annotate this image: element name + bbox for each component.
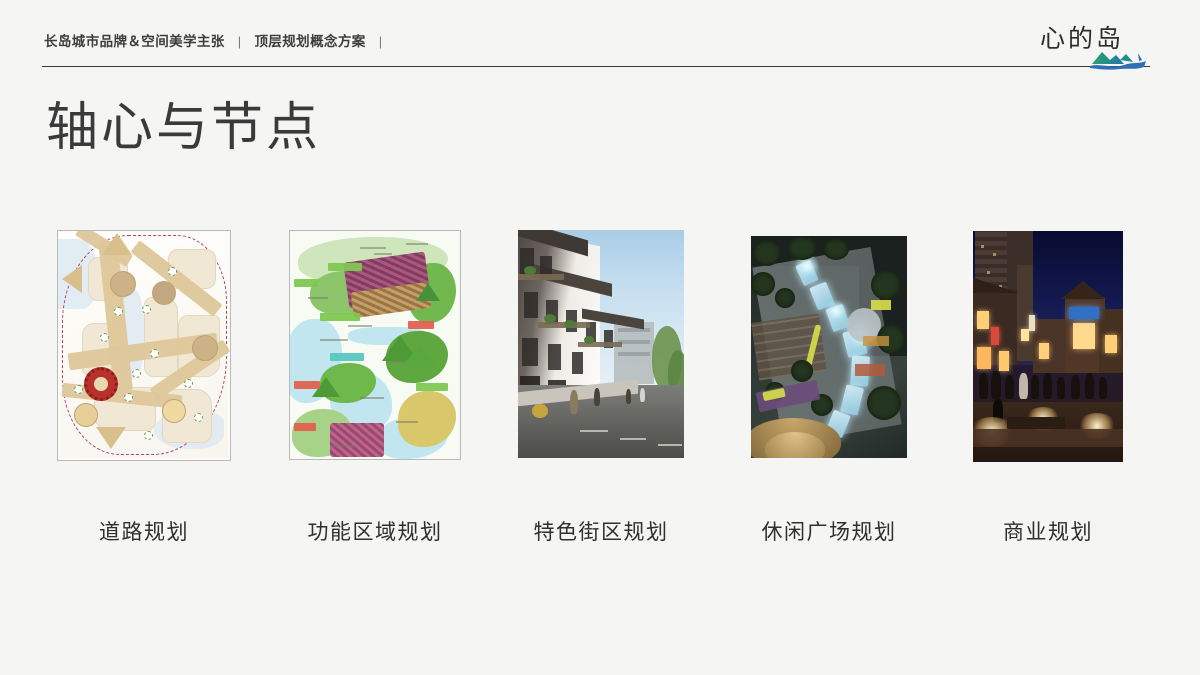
gallery-item-commercial-planning[interactable]: 商业规划 [973, 230, 1123, 462]
breadcrumb: 长岛城市品牌＆空间美学主张 | 顶层规划概念方案 | [42, 30, 1150, 50]
mountain-wave-icon [1090, 49, 1148, 71]
planning-gallery: 道路规划 [0, 230, 1200, 550]
page-title: 轴心与节点 [46, 98, 321, 159]
thumbnail-illustrated-area-map[interactable] [289, 230, 461, 460]
breadcrumb-separator-2: | [379, 34, 383, 49]
thumbnail-road-planning-map[interactable] [57, 230, 231, 461]
gallery-item-caption: 休闲广场规划 [762, 516, 897, 546]
breadcrumb-item-concept: 顶层规划概念方案 [254, 30, 365, 50]
night-commercial-illustration [973, 231, 1123, 462]
breadcrumb-separator-1: | [238, 34, 242, 49]
thumbnail-street-render[interactable] [518, 230, 684, 458]
slide-header: 长岛城市品牌＆空间美学主张 | 顶层规划概念方案 | 心的岛 [42, 30, 1150, 74]
gallery-item-road-planning[interactable]: 道路规划 [57, 230, 231, 461]
gallery-item-caption: 商业规划 [1003, 516, 1093, 546]
thumbnail-night-plaza-aerial[interactable] [751, 236, 907, 458]
gallery-item-feature-street[interactable]: 特色街区规划 [518, 230, 684, 458]
gallery-item-caption: 道路规划 [99, 516, 189, 546]
gallery-item-caption: 功能区域规划 [308, 516, 443, 546]
header-divider [42, 66, 1150, 67]
gallery-item-functional-zoning[interactable]: 功能区域规划 [289, 230, 461, 460]
street-render-illustration [518, 230, 684, 458]
brand-logo-text: 心的岛 [1040, 26, 1124, 51]
gallery-item-caption: 特色街区规划 [534, 516, 669, 546]
brand-logo: 心的岛 [1038, 20, 1150, 76]
breadcrumb-item-brand: 长岛城市品牌＆空间美学主张 [44, 30, 225, 50]
night-plaza-illustration [751, 236, 907, 458]
road-planning-illustration [58, 231, 230, 460]
thumbnail-night-commercial[interactable] [973, 231, 1123, 462]
gallery-item-leisure-plaza[interactable]: 休闲广场规划 [751, 230, 907, 458]
functional-zoning-illustration [290, 231, 460, 459]
